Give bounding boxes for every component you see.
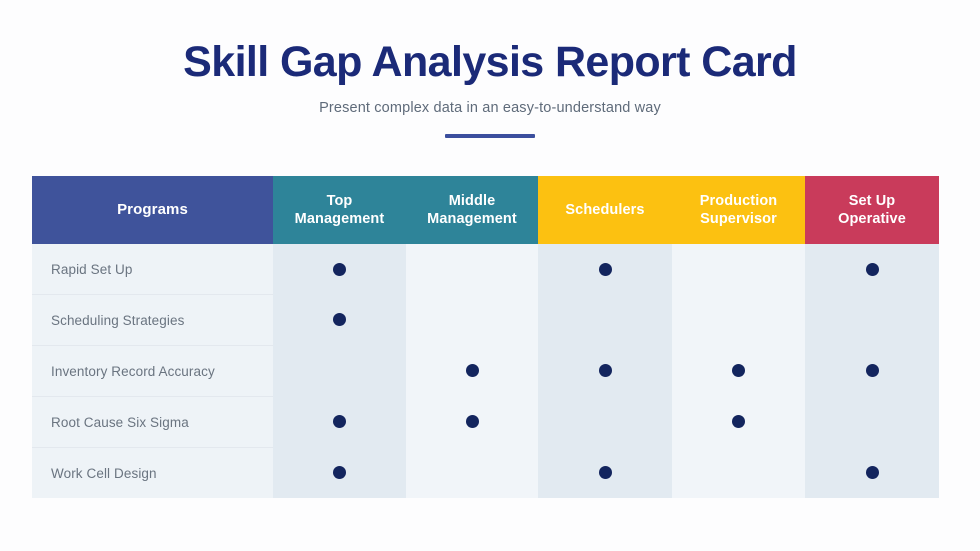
filled-dot-icon — [732, 364, 745, 377]
row-label-inventory-record-accuracy: Inventory Record Accuracy — [32, 346, 273, 397]
table-row: Work Cell Design — [32, 448, 939, 499]
cell-inventory-record-accuracy-schedulers[interactable] — [538, 346, 672, 397]
filled-dot-icon — [866, 364, 879, 377]
cell-root-cause-six-sigma-schedulers[interactable] — [538, 397, 672, 448]
header-line-2: Management — [295, 211, 385, 227]
filled-dot-icon — [333, 313, 346, 326]
cell-scheduling-strategies-middle-management[interactable] — [406, 295, 538, 346]
table-row: Root Cause Six Sigma — [32, 397, 939, 448]
cell-work-cell-design-middle-management[interactable] — [406, 448, 538, 499]
table-row: Inventory Record Accuracy — [32, 346, 939, 397]
title-accent-rule — [445, 134, 535, 138]
filled-dot-icon — [333, 415, 346, 428]
empty-mark-icon — [466, 313, 479, 326]
cell-scheduling-strategies-set-up-operative[interactable] — [805, 295, 939, 346]
empty-mark-icon — [732, 466, 745, 479]
row-label-rapid-set-up: Rapid Set Up — [32, 244, 273, 295]
header-line-2: Operative — [838, 211, 906, 227]
cell-work-cell-design-set-up-operative[interactable] — [805, 448, 939, 499]
cell-rapid-set-up-set-up-operative[interactable] — [805, 244, 939, 295]
filled-dot-icon — [732, 415, 745, 428]
cell-root-cause-six-sigma-middle-management[interactable] — [406, 397, 538, 448]
row-label-scheduling-strategies: Scheduling Strategies — [32, 295, 273, 346]
filled-dot-icon — [866, 263, 879, 276]
cell-root-cause-six-sigma-production-supervisor[interactable] — [672, 397, 805, 448]
cell-scheduling-strategies-top-management[interactable] — [273, 295, 406, 346]
header-line-1: Set Up — [849, 193, 896, 209]
page-title: Skill Gap Analysis Report Card — [0, 38, 980, 86]
column-header-production-supervisor[interactable]: Production Supervisor — [672, 176, 805, 244]
empty-mark-icon — [732, 263, 745, 276]
empty-mark-icon — [333, 364, 346, 377]
column-header-set-up-operative[interactable]: Set Up Operative — [805, 176, 939, 244]
cell-rapid-set-up-schedulers[interactable] — [538, 244, 672, 295]
table-header-row: Programs Top Management Middle Managemen… — [32, 176, 939, 244]
header-line-2: Management — [427, 211, 517, 227]
cell-inventory-record-accuracy-middle-management[interactable] — [406, 346, 538, 397]
cell-scheduling-strategies-production-supervisor[interactable] — [672, 295, 805, 346]
empty-mark-icon — [466, 263, 479, 276]
table-row: Rapid Set Up — [32, 244, 939, 295]
cell-work-cell-design-schedulers[interactable] — [538, 448, 672, 499]
cell-rapid-set-up-middle-management[interactable] — [406, 244, 538, 295]
header-line-1: Middle — [449, 193, 496, 209]
empty-mark-icon — [599, 415, 612, 428]
header-line-1: Production — [700, 193, 778, 209]
cell-inventory-record-accuracy-set-up-operative[interactable] — [805, 346, 939, 397]
skill-gap-matrix-table: Programs Top Management Middle Managemen… — [32, 176, 939, 498]
row-label-work-cell-design: Work Cell Design — [32, 448, 273, 499]
filled-dot-icon — [466, 364, 479, 377]
cell-rapid-set-up-production-supervisor[interactable] — [672, 244, 805, 295]
empty-mark-icon — [599, 313, 612, 326]
filled-dot-icon — [599, 466, 612, 479]
slide-header: Skill Gap Analysis Report Card Present c… — [0, 38, 980, 138]
header-line-1: Top — [327, 193, 353, 209]
cell-scheduling-strategies-schedulers[interactable] — [538, 295, 672, 346]
filled-dot-icon — [466, 415, 479, 428]
table-body: Rapid Set Up Scheduling Strategies Inven… — [32, 244, 939, 498]
row-label-root-cause-six-sigma: Root Cause Six Sigma — [32, 397, 273, 448]
filled-dot-icon — [866, 466, 879, 479]
header-line-2: Supervisor — [700, 211, 777, 227]
cell-inventory-record-accuracy-top-management[interactable] — [273, 346, 406, 397]
empty-mark-icon — [466, 466, 479, 479]
table-row: Scheduling Strategies — [32, 295, 939, 346]
column-header-middle-management[interactable]: Middle Management — [406, 176, 538, 244]
cell-rapid-set-up-top-management[interactable] — [273, 244, 406, 295]
page-subtitle: Present complex data in an easy-to-under… — [0, 100, 980, 116]
column-header-schedulers[interactable]: Schedulers — [538, 176, 672, 244]
filled-dot-icon — [599, 263, 612, 276]
cell-work-cell-design-production-supervisor[interactable] — [672, 448, 805, 499]
column-header-top-management[interactable]: Top Management — [273, 176, 406, 244]
empty-mark-icon — [866, 313, 879, 326]
header-line-1: Schedulers — [565, 202, 644, 218]
filled-dot-icon — [599, 364, 612, 377]
filled-dot-icon — [333, 263, 346, 276]
filled-dot-icon — [333, 466, 346, 479]
cell-root-cause-six-sigma-top-management[interactable] — [273, 397, 406, 448]
empty-mark-icon — [732, 313, 745, 326]
slide-canvas: Skill Gap Analysis Report Card Present c… — [0, 0, 980, 551]
cell-inventory-record-accuracy-production-supervisor[interactable] — [672, 346, 805, 397]
cell-work-cell-design-top-management[interactable] — [273, 448, 406, 499]
empty-mark-icon — [866, 415, 879, 428]
column-header-programs[interactable]: Programs — [32, 176, 273, 244]
cell-root-cause-six-sigma-set-up-operative[interactable] — [805, 397, 939, 448]
